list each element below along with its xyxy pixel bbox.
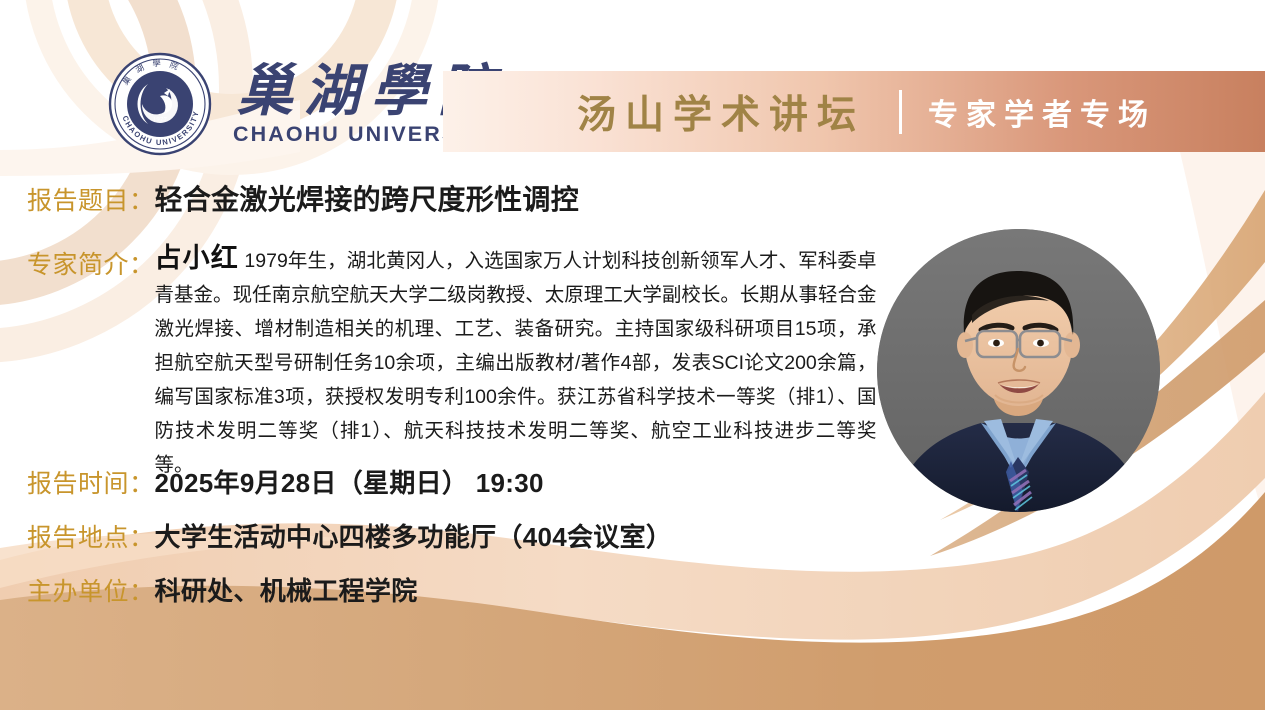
speaker-name: 占小红 xyxy=(155,243,239,273)
banner-divider xyxy=(899,90,902,134)
report-time-label: 报告时间： xyxy=(27,464,155,500)
field-report-place: 报告地点： 大学生活动中心四楼多功能厅（404会议室） xyxy=(27,517,672,554)
host-organizer-value: 科研处、机械工程学院 xyxy=(155,571,418,608)
right-pale-wash xyxy=(1180,152,1265,520)
report-time-value: 2025年9月28日（星期日） 19:30 xyxy=(155,463,544,500)
speaker-bio-text: 1979年生，湖北黄冈人，入选国家万人计划科技创新领军人才、军科委卓青基金。现任… xyxy=(155,250,877,476)
field-report-title: 报告题目： 轻合金激光焊接的跨尺度形性调控 xyxy=(27,178,579,218)
svg-text:1977: 1977 xyxy=(153,116,168,123)
host-organizer-label: 主办单位： xyxy=(27,572,155,608)
report-title-value: 轻合金激光焊接的跨尺度形性调控 xyxy=(155,178,580,218)
field-report-time: 报告时间： 2025年9月28日（星期日） 19:30 xyxy=(27,463,544,500)
report-place-label: 报告地点： xyxy=(27,518,155,554)
speaker-bio-body: 占小红 1979年生，湖北黄冈人，入选国家万人计划科技创新领军人才、军科委卓青基… xyxy=(155,241,877,482)
field-speaker-bio: 专家简介： 占小红 1979年生，湖北黄冈人，入选国家万人计划科技创新领军人才、… xyxy=(27,241,877,482)
forum-banner: 汤山学术讲坛 专家学者专场 xyxy=(443,71,1265,152)
seminar-poster: 1977 巢 湖 學 院 CHAOHU UNIVERSITY 巢湖學院 CHAO… xyxy=(0,0,1265,710)
banner-main-title: 汤山学术讲坛 xyxy=(577,84,865,140)
university-seal-icon: 1977 巢 湖 學 院 CHAOHU UNIVERSITY xyxy=(108,52,212,156)
report-title-label: 报告题目： xyxy=(27,181,155,217)
report-place-value: 大学生活动中心四楼多功能厅（404会议室） xyxy=(155,517,673,554)
speaker-bio-label: 专家简介： xyxy=(27,241,155,281)
field-host-organizer: 主办单位： 科研处、机械工程学院 xyxy=(27,571,418,608)
speaker-portrait xyxy=(877,229,1160,512)
banner-subtitle: 专家学者专场 xyxy=(928,90,1156,134)
